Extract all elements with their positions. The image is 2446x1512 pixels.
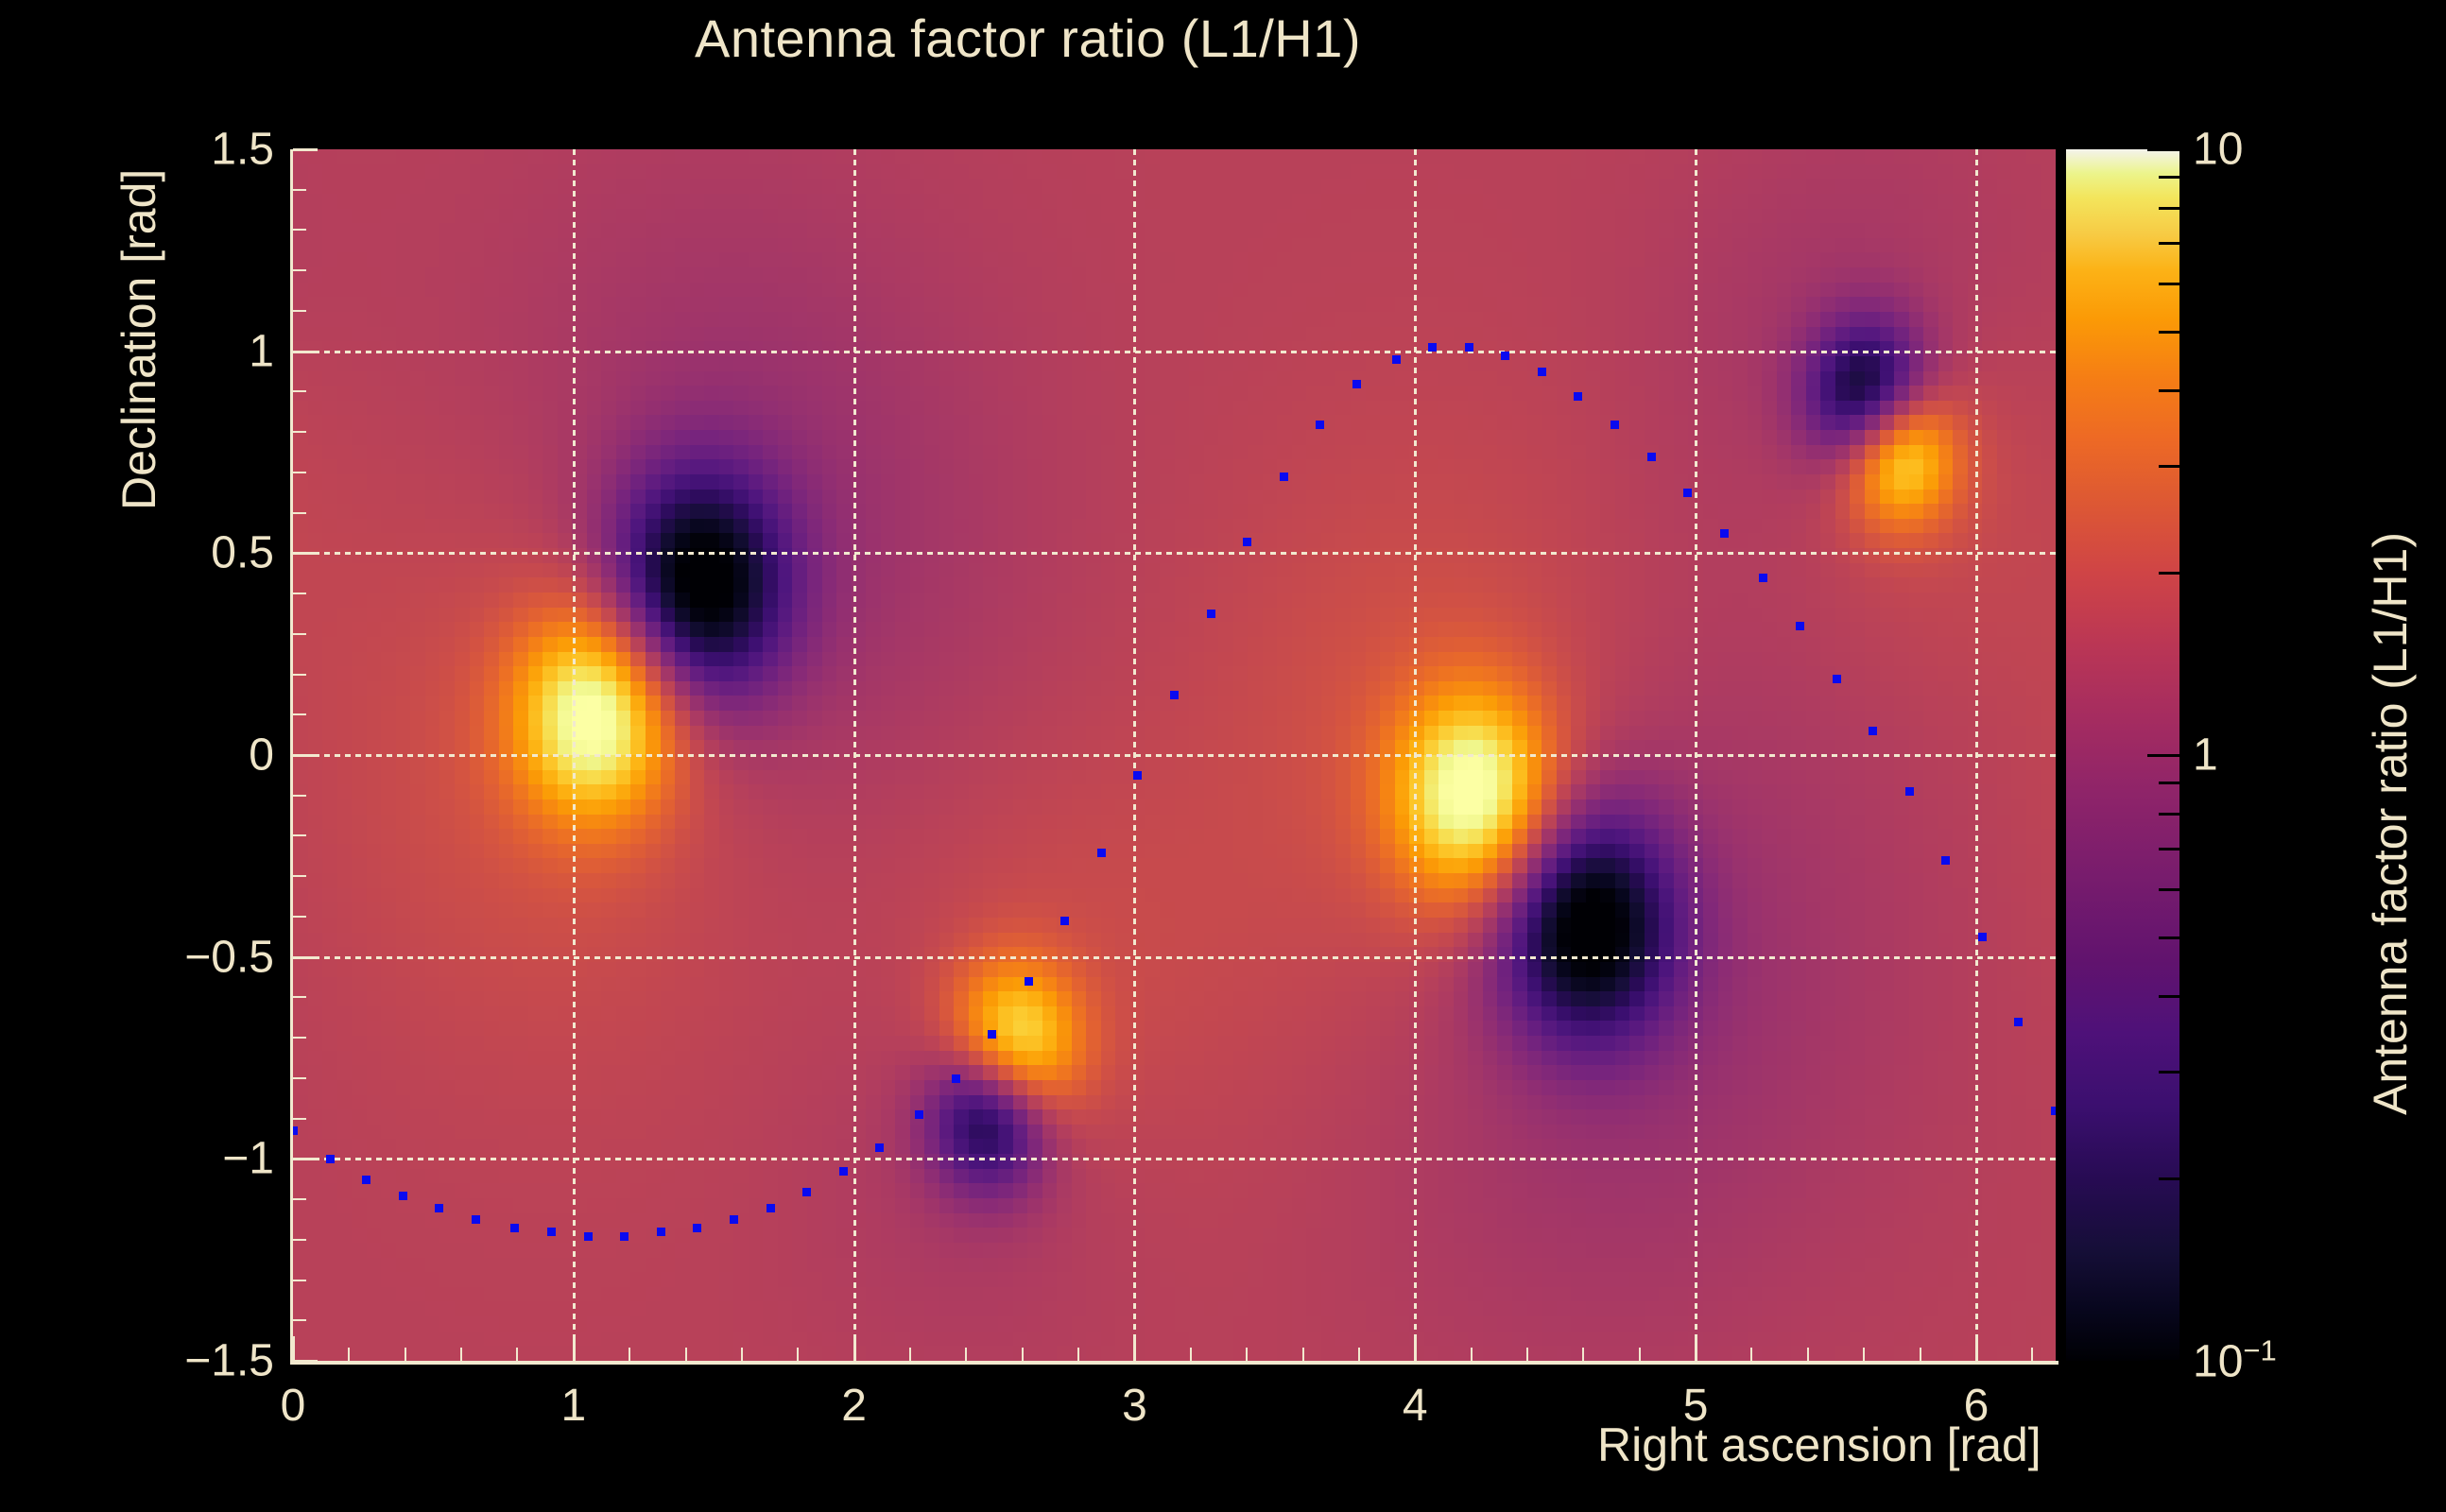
galactic-plane-point [1428,343,1437,352]
y-tick-minor [293,1319,306,1321]
colorbar-tick-minor [2159,283,2179,285]
x-tick-minor [685,1348,687,1361]
x-tick-minor [1920,1348,1921,1361]
x-tick-minor [1639,1348,1641,1361]
y-tick-minor [293,512,306,514]
y-tick-minor [293,633,306,635]
galactic-plane-point [952,1074,960,1083]
galactic-plane-point [1060,917,1069,925]
colorbar-tick-label: 1 [2193,730,2218,782]
y-tick-minor [293,593,306,594]
x-tick-major [1695,1336,1697,1361]
y-tick-minor [293,1280,306,1281]
galactic-plane-point [1465,343,1473,352]
colorbar-tick-major [2147,1360,2179,1363]
y-tick-minor [293,189,306,191]
x-tick-minor [1302,1348,1304,1361]
y-tick-minor [293,834,306,836]
heatmap-plot-area[interactable] [293,149,2056,1361]
x-tick-minor [1471,1348,1473,1361]
galactic-plane-point [547,1228,556,1236]
galactic-plane-point [1352,380,1361,388]
galactic-plane-point [988,1030,996,1039]
y-tick-minor [293,674,306,676]
y-tick-label: 0 [104,730,274,782]
x-tick-label: 3 [1122,1380,1147,1432]
x-tick-major [1975,1336,1978,1361]
galactic-plane-point [839,1167,848,1176]
x-tick-minor [1022,1348,1024,1361]
y-tick-major [293,1360,318,1363]
colorbar-tick-label: 10 [2193,124,2243,176]
colorbar-tick-minor [2159,331,2179,334]
x-tick-minor [460,1348,462,1361]
y-tick-minor [293,996,306,998]
galactic-plane-point [1316,421,1324,429]
figure-canvas: Antenna factor ratio (L1/H1) 0123456 −1.… [0,0,2446,1512]
y-tick-minor [293,1118,306,1120]
galactic-plane-point [1833,675,1841,683]
colorbar-tick-minor [2159,176,2179,179]
y-tick-minor [293,431,306,433]
galactic-plane-point [435,1204,443,1212]
colorbar-tick-minor [2159,207,2179,210]
galactic-plane-point [657,1228,665,1236]
heatmap-image [293,149,2056,1361]
colorbar-tick-label: 10−1 [2193,1334,2277,1388]
galactic-plane-point [326,1155,335,1163]
x-tick-minor [1190,1348,1192,1361]
y-axis-title: Declination [rad] [112,169,166,510]
galactic-plane-point [915,1110,923,1119]
x-tick-minor [1582,1348,1584,1361]
y-tick-minor [293,1239,306,1241]
colorbar-tick-minor [2159,813,2179,816]
colorbar-tick-minor [2159,888,2179,891]
colorbar-tick-minor [2159,782,2179,784]
galactic-plane-point [1501,352,1509,360]
x-tick-label: 2 [841,1380,867,1432]
colorbar-tick-minor [2159,572,2179,575]
y-tick-major [293,956,318,959]
galactic-plane-point [1170,691,1179,699]
x-tick-minor [1077,1348,1079,1361]
colorbar-tick-minor [2159,1071,2179,1074]
galactic-plane-point [1133,771,1142,780]
x-tick-label: 4 [1403,1380,1428,1432]
galactic-plane-point [584,1232,593,1241]
galactic-plane-point [1097,849,1106,857]
x-tick-minor [741,1348,743,1361]
colorbar-tick-minor [2159,389,2179,392]
galactic-plane-point [1869,727,1877,735]
galactic-plane-point [1905,787,1914,796]
y-tick-major [293,552,318,555]
galactic-plane-point [693,1224,701,1232]
y-tick-minor [293,795,306,797]
x-tick-minor [629,1348,630,1361]
x-tick-major [853,1336,856,1361]
x-tick-minor [965,1348,967,1361]
x-tick-minor [1863,1348,1865,1361]
colorbar-tick-major [2147,148,2179,151]
y-tick-minor [293,916,306,918]
galactic-plane-point [620,1232,629,1241]
galactic-plane-point [510,1224,519,1232]
galactic-plane-point [1720,529,1729,538]
y-tick-minor [293,229,306,231]
galactic-plane-point [875,1143,884,1152]
y-tick-label: 1.5 [104,124,274,176]
colorbar-tick-minor [2159,848,2179,850]
y-tick-minor [293,713,306,715]
x-tick-major [1133,1336,1136,1361]
galactic-plane-point [1611,421,1619,429]
y-tick-minor [293,472,306,473]
y-tick-minor [293,269,306,271]
galactic-plane-point [1207,610,1215,618]
galactic-plane-point [2051,1107,2056,1115]
y-tick-minor [293,1198,306,1200]
galactic-plane-point [767,1204,775,1212]
galactic-plane-point [1025,977,1033,986]
chart-title: Antenna factor ratio (L1/H1) [0,8,2056,69]
y-tick-major [293,148,318,151]
x-tick-minor [1750,1348,1752,1361]
y-tick-minor [293,1037,306,1039]
y-tick-minor [293,390,306,392]
x-tick-major [573,1336,576,1361]
x-tick-minor [1358,1348,1360,1361]
galactic-plane-point [293,1126,298,1135]
galactic-plane-point [1392,355,1401,364]
colorbar-tick-minor [2159,995,2179,998]
heatmap-bitmap [293,149,2056,1361]
galactic-plane-point [1647,453,1656,461]
colorbar-tick-minor [2159,1177,2179,1180]
x-tick-minor [348,1348,350,1361]
galactic-plane-point [472,1215,480,1224]
galactic-plane-point [2014,1018,2023,1026]
galactic-plane-point [1941,856,1950,865]
x-tick-minor [1807,1348,1809,1361]
axis-line-bottom [293,1361,2058,1365]
x-tick-minor [1526,1348,1528,1361]
y-tick-label: −0.5 [104,931,274,983]
galactic-plane-point [1978,933,1987,941]
y-tick-label: 0.5 [104,527,274,579]
x-tick-minor [1246,1348,1248,1361]
x-tick-minor [2031,1348,2033,1361]
colorbar-tick-minor [2159,936,2179,939]
x-tick-major [1414,1336,1417,1361]
y-tick-minor [293,310,306,312]
colorbar-tick-minor [2159,465,2179,468]
galactic-plane-point [1683,489,1692,497]
galactic-plane-point [802,1188,811,1196]
galactic-plane-point [730,1215,738,1224]
galactic-plane-point [1243,538,1251,546]
galactic-plane-point [1538,368,1546,376]
y-tick-major [293,1158,318,1160]
x-tick-minor [797,1348,799,1361]
y-tick-label: −1 [104,1133,274,1185]
galactic-plane-point [1280,472,1288,481]
colorbar-tick-major [2147,754,2179,757]
x-axis-title: Right ascension [rad] [1597,1417,2041,1472]
colorbar-title: Antenna factor ratio (L1/H1) [2363,532,2418,1115]
galactic-plane-point [362,1176,370,1184]
x-tick-minor [405,1348,406,1361]
galactic-plane-point [1759,574,1767,582]
y-tick-major [293,351,318,353]
x-tick-minor [516,1348,518,1361]
galactic-plane-point [1796,622,1804,630]
x-tick-major [292,1336,295,1361]
y-tick-label: −1.5 [104,1335,274,1387]
y-tick-minor [293,875,306,877]
colorbar-tick-minor [2159,242,2179,245]
x-tick-label: 1 [560,1380,586,1432]
x-tick-minor [909,1348,911,1361]
galactic-plane-point [1574,392,1582,401]
galactic-plane-point [399,1192,407,1200]
y-tick-major [293,754,318,757]
y-tick-minor [293,1077,306,1079]
x-tick-label: 0 [281,1380,306,1432]
